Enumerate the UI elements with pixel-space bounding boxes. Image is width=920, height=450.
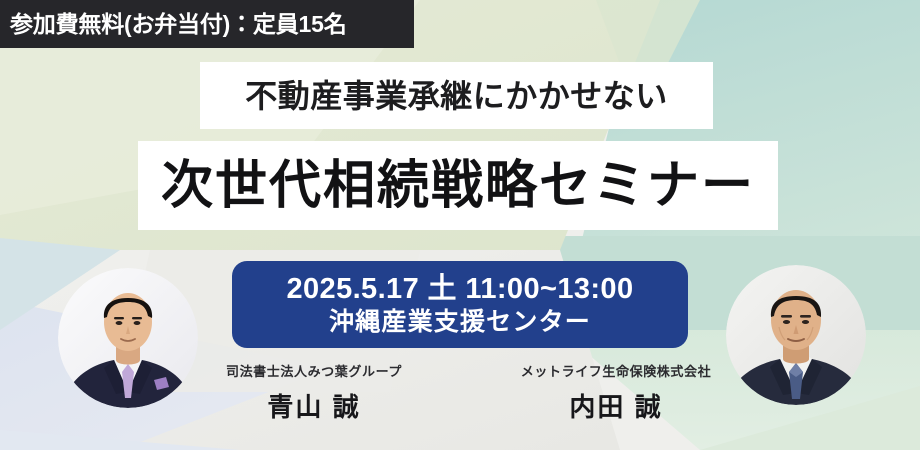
speaker-photo-uchida — [726, 265, 866, 405]
title-box: 次世代相続戦略セミナー — [138, 141, 778, 230]
subtitle-box: 不動産事業承継にかかせない — [200, 62, 713, 129]
free-admission-tag-label: 参加費無料(お弁当付)：定員15名 — [10, 13, 347, 36]
speaker-name-uchida: 内田 誠 — [569, 394, 662, 420]
page-title: 次世代相続戦略セミナー — [161, 160, 755, 212]
speaker-caption-uchida: メットライフ生命保険株式会社 内田 誠 — [500, 365, 732, 420]
event-info-panel: 2025.5.17 土 11:00~13:00 沖縄産業支援センター — [232, 261, 688, 348]
event-venue: 沖縄産業支援センター — [329, 308, 591, 336]
speaker-name-aoyama: 青山 誠 — [267, 394, 360, 420]
free-admission-tag: 参加費無料(お弁当付)：定員15名 — [0, 0, 414, 48]
speaker-photo-aoyama — [58, 268, 198, 408]
speaker-org-aoyama: 司法書士法人みつ葉グループ — [226, 365, 402, 378]
speaker-caption-aoyama: 司法書士法人みつ葉グループ 青山 誠 — [198, 365, 430, 420]
subtitle-text: 不動産事業承継にかかせない — [245, 80, 668, 112]
event-datetime: 2025.5.17 土 11:00~13:00 — [286, 273, 633, 305]
seminar-banner: 参加費無料(お弁当付)：定員15名 不動産事業承継にかかせない 次世代相続戦略セ… — [0, 0, 920, 450]
speaker-org-uchida: メットライフ生命保険株式会社 — [521, 365, 711, 378]
